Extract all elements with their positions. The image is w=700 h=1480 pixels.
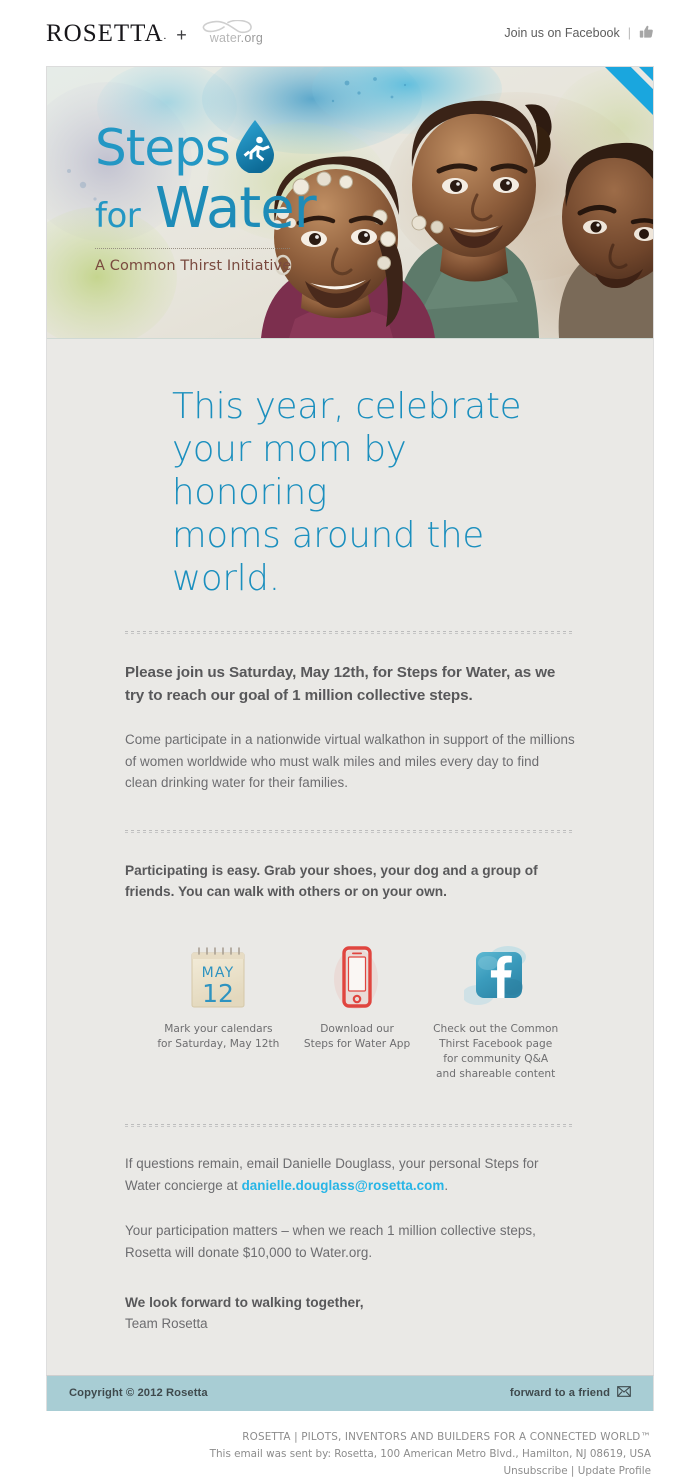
hero-logo-rule: [95, 248, 290, 249]
email-body-inner: This year, celebrate your mom by honorin…: [47, 339, 653, 1335]
rosetta-logo-registered: .: [164, 30, 168, 42]
facebook-join-group[interactable]: Join us on Facebook |: [504, 25, 654, 42]
legal-separator: |: [571, 1465, 575, 1477]
page-title: This year, celebrate your mom by honorin…: [125, 339, 575, 601]
app-caption: Download our Steps for Water App: [288, 1022, 427, 1052]
facebook-caption-line1: Check out the Common: [426, 1022, 565, 1037]
waterorg-logo-text: water.org: [210, 32, 263, 45]
signoff-name: Team Rosetta: [125, 1313, 575, 1335]
forward-to-friend-label: forward to a friend: [510, 1387, 610, 1399]
rosetta-logo-text: ROSETTA: [46, 20, 164, 47]
legal-line-1: ROSETTA | PILOTS, INVENTORS AND BUILDERS…: [46, 1429, 651, 1446]
facebook-caption-line4: and shareable content: [426, 1067, 565, 1082]
svg-text:12: 12: [202, 979, 234, 1008]
divider-1: [125, 631, 575, 634]
update-profile-link[interactable]: Update Profile: [578, 1465, 651, 1477]
envelope-icon[interactable]: [617, 1386, 631, 1400]
contact-text-after: .: [444, 1178, 448, 1193]
thumbs-up-icon[interactable]: [639, 25, 654, 42]
copyright-text: Copyright © 2012 Rosetta: [69, 1387, 208, 1399]
calendar-icon: MAY 12: [149, 939, 288, 1011]
icon-cell-facebook[interactable]: Check out the Common Thirst Facebook pag…: [426, 939, 565, 1082]
calendar-caption: Mark your calendars for Saturday, May 12…: [149, 1022, 288, 1052]
headline-line-2: your mom by honoring: [172, 429, 567, 515]
brand-group: ROSETTA. + water.org: [46, 20, 263, 46]
intro-paragraph: Come participate in a nationwide virtual…: [125, 729, 575, 794]
forward-to-friend-group[interactable]: forward to a friend: [510, 1386, 631, 1400]
email-container: Steps: [46, 66, 654, 1411]
email-link[interactable]: danielle.douglass@rosetta.com: [242, 1178, 445, 1193]
blue-corner-ribbon: [561, 67, 653, 164]
legal-links[interactable]: Unsubscribe | Update Profile: [46, 1463, 651, 1480]
facebook-join-label: Join us on Facebook: [504, 26, 619, 40]
rosetta-logo[interactable]: ROSETTA.: [46, 21, 167, 46]
headline-line-3: moms around the world.: [172, 515, 567, 601]
divider-3: [125, 1124, 575, 1127]
hero-logo-line1: Steps: [95, 119, 355, 179]
plus-separator: +: [176, 26, 187, 46]
participation-subhead: Participating is easy. Grab your shoes, …: [125, 860, 575, 903]
contact-paragraph: If questions remain, email Danielle Doug…: [125, 1153, 575, 1196]
calendar-caption-line1: Mark your calendars: [149, 1022, 288, 1037]
headline-line-1: This year, celebrate: [172, 386, 567, 429]
legal-line-2: This email was sent by: Rosetta, 100 Ame…: [46, 1446, 651, 1463]
email-body: This year, celebrate your mom by honorin…: [46, 339, 654, 1375]
smartphone-icon: [288, 939, 427, 1011]
app-caption-line2: Steps for Water App: [288, 1037, 427, 1052]
preheader-separator: |: [628, 26, 631, 40]
divider-2: [125, 830, 575, 833]
hero-banner: Steps: [46, 66, 654, 339]
water-droplet-runner-icon: [234, 119, 276, 179]
unsubscribe-link[interactable]: Unsubscribe: [504, 1465, 568, 1477]
legal-footer: ROSETTA | PILOTS, INVENTORS AND BUILDERS…: [46, 1411, 654, 1480]
icon-cell-app[interactable]: Download our Steps for Water App: [288, 939, 427, 1082]
facebook-caption: Check out the Common Thirst Facebook pag…: [426, 1022, 565, 1082]
hero-logo-line2: for Water: [95, 183, 355, 235]
lead-paragraph: Please join us Saturday, May 12th, for S…: [125, 661, 575, 707]
app-caption-line1: Download our: [288, 1022, 427, 1037]
calendar-caption-line2: for Saturday, May 12th: [149, 1037, 288, 1052]
preheader: ROSETTA. + water.org Join us on Facebook…: [0, 0, 700, 66]
facebook-caption-line2: Thirst Facebook page: [426, 1037, 565, 1052]
waterorg-logo[interactable]: water.org: [196, 20, 263, 46]
icon-row: MAY 12 Mark your calendars for Saturday,…: [125, 939, 575, 1082]
facebook-icon: [426, 939, 565, 1011]
hero-tagline: A Common Thirst Initiative: [95, 258, 355, 274]
signoff-bold: We look forward to walking together,: [125, 1292, 575, 1313]
hero-logo-lockup: Steps: [95, 119, 355, 274]
icon-cell-calendar[interactable]: MAY 12 Mark your calendars for Saturday,…: [149, 939, 288, 1082]
donation-paragraph: Your participation matters – when we rea…: [125, 1220, 575, 1263]
footer-bar: Copyright © 2012 Rosetta forward to a fr…: [46, 1375, 654, 1411]
facebook-caption-line3: for community Q&A: [426, 1052, 565, 1067]
